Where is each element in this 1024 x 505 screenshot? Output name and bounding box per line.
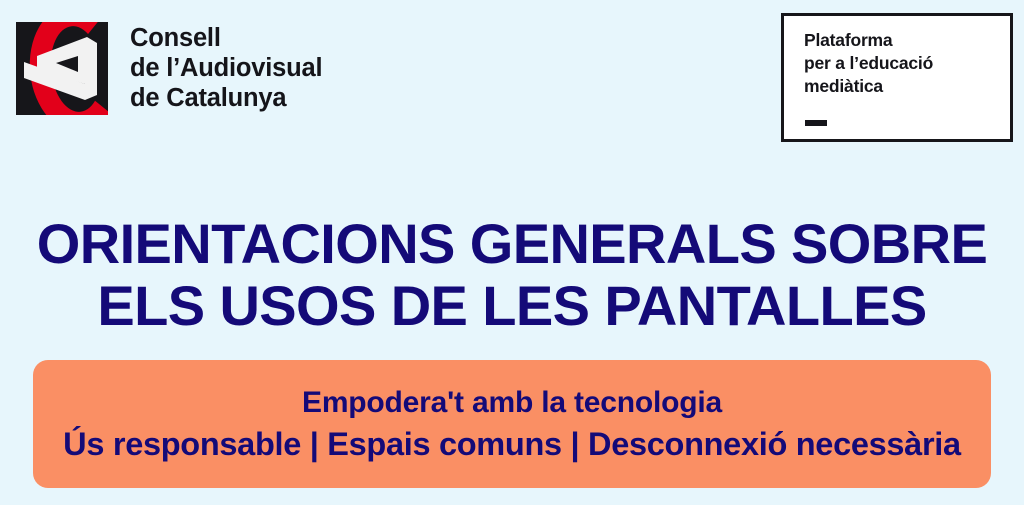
platform-badge-text: Plataforma per a l’educació mediàtica [804,29,933,98]
cac-logo-lockup: Consell de l’Audiovisual de Catalunya [16,22,322,115]
cac-logo-mark-icon [16,22,108,115]
cac-name-line-1: Consell [130,24,221,52]
platform-line-3: mediàtica [804,76,883,96]
platform-line-1: Plataforma [804,30,892,50]
logo-letter-a-shape [16,22,108,115]
platform-badge: Plataforma per a l’educació mediàtica [781,13,1013,142]
cac-logo-wordmark: Consell de l’Audiovisual de Catalunya [130,23,322,113]
page-title: ORIENTACIONS GENERALS SOBRE ELS USOS DE … [0,213,1024,337]
platform-badge-dash-icon [805,120,827,126]
page-title-line-2: ELS USOS DE LES PANTALLES [0,275,1024,337]
platform-line-2: per a l’educació [804,53,933,73]
cac-name-line-3: de Catalunya [130,84,286,112]
header: Consell de l’Audiovisual de Catalunya Pl… [0,0,1024,155]
cac-name-line-2: de l’Audiovisual [130,54,322,82]
subtitle-banner: Empodera't amb la tecnologia Ús responsa… [33,360,991,488]
subtitle-banner-line-2: Ús responsable | Espais comuns | Desconn… [63,423,961,465]
page-title-line-1: ORIENTACIONS GENERALS SOBRE [0,213,1024,275]
subtitle-banner-line-1: Empodera't amb la tecnologia [302,383,722,423]
slide-root: Consell de l’Audiovisual de Catalunya Pl… [0,0,1024,505]
